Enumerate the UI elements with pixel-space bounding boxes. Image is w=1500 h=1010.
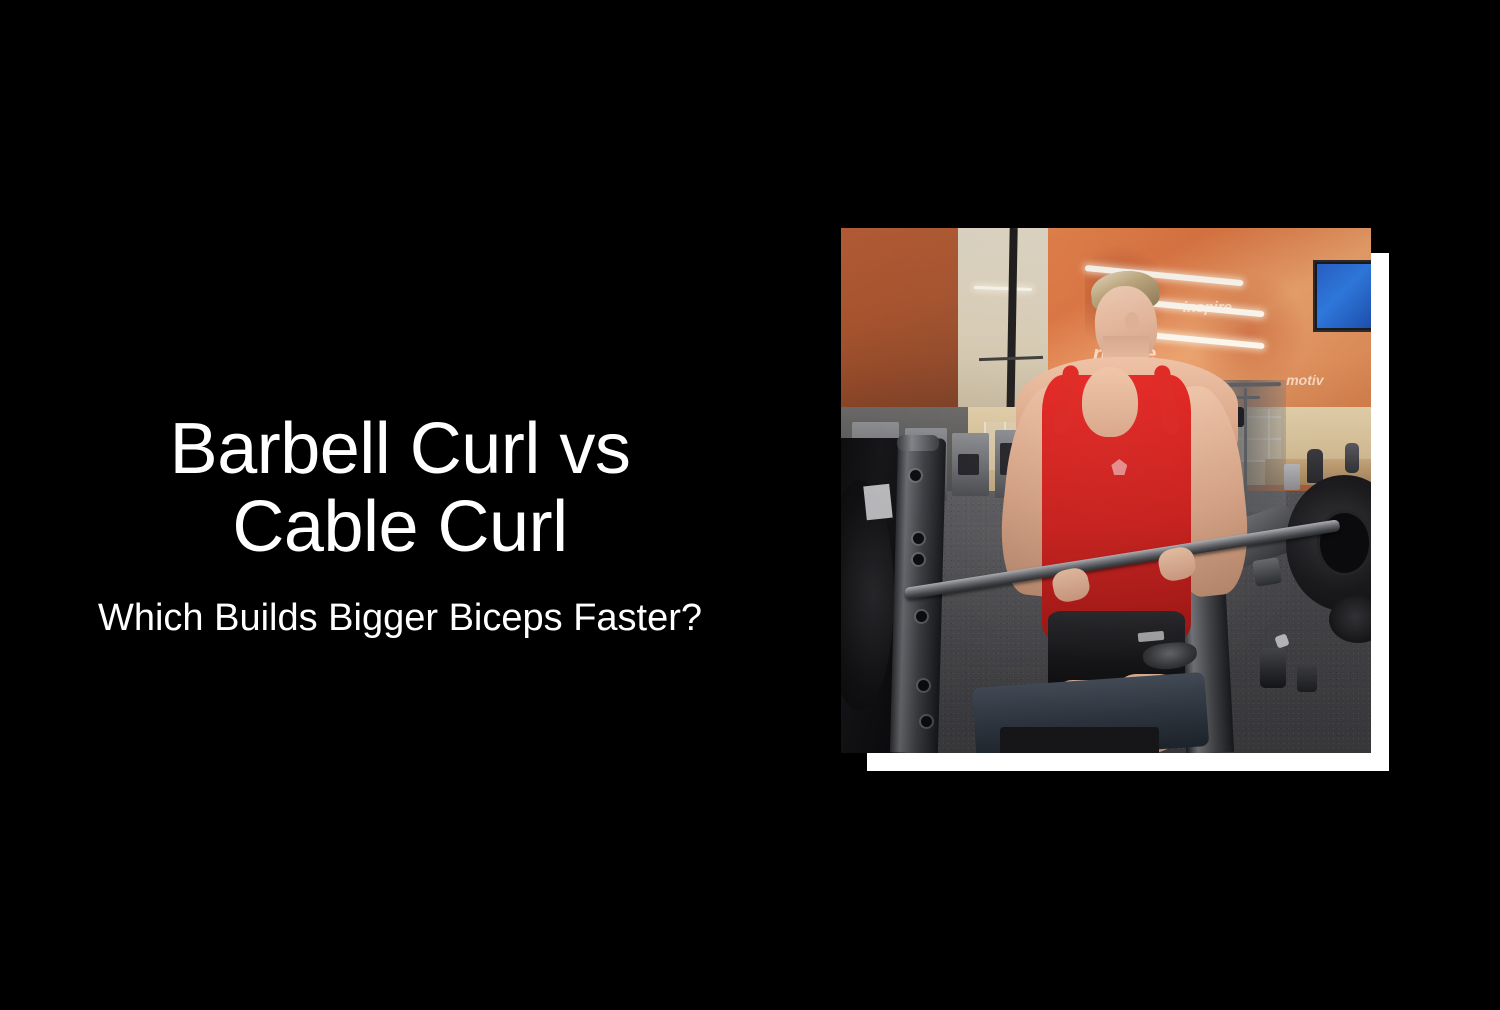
- title-line-1: Barbell Curl vs: [0, 410, 800, 488]
- title-line-2: Cable Curl: [0, 488, 800, 566]
- rack-hole-5: [918, 680, 929, 691]
- gym-photo: inspire nance motiv: [841, 228, 1371, 753]
- slide-canvas: Barbell Curl vs Cable Curl Which Builds …: [0, 0, 1500, 1010]
- page-subtitle: Which Builds Bigger Biceps Faster?: [0, 566, 800, 640]
- text-block: Barbell Curl vs Cable Curl Which Builds …: [0, 410, 800, 640]
- barbell-collar: [1253, 557, 1283, 587]
- left-rack-cap: [897, 435, 939, 451]
- subject-ear: [1125, 312, 1139, 332]
- dumbbell-1: [1260, 648, 1286, 688]
- photo-scene: inspire nance motiv: [841, 228, 1371, 753]
- rack-hole-2: [913, 533, 924, 544]
- rack-hole-1: [910, 470, 921, 481]
- subject-chest: [1082, 367, 1138, 437]
- rack-warning-label: [863, 484, 892, 521]
- rack-hole-6: [921, 716, 932, 727]
- dumbbell-2: [1297, 664, 1317, 692]
- bench-base: [1000, 727, 1159, 753]
- rack-hole-3: [913, 554, 924, 565]
- page-title: Barbell Curl vs Cable Curl: [0, 410, 800, 566]
